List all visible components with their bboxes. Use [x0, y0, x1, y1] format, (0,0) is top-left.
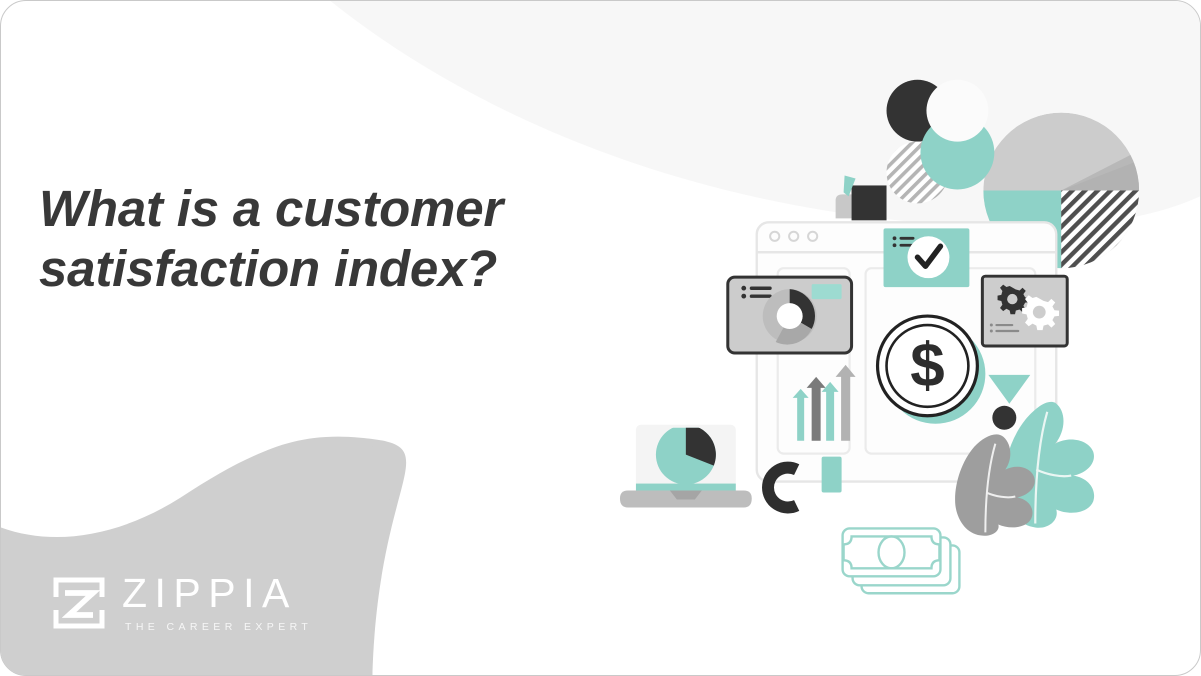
- check-icon: [917, 246, 940, 266]
- leaf-gray-vein: [985, 444, 995, 533]
- text-lines: [990, 324, 1019, 333]
- window-dot-2: [789, 232, 798, 241]
- laptop-pie-slice: [686, 425, 716, 466]
- arrow-bar-4: [836, 365, 856, 441]
- leaf-teal: [1004, 402, 1094, 528]
- banknote-stack: [843, 528, 960, 593]
- zippia-logo-type: ZIPPIA THE CAREER EXPERT: [122, 573, 312, 633]
- dollar-symbol: $: [910, 331, 944, 400]
- checkmark-card: [884, 228, 970, 287]
- triangle-icon: [988, 375, 1030, 404]
- hero-card: What is a customer satisfaction index?: [0, 0, 1201, 676]
- gear-icon-dark: [998, 285, 1029, 315]
- laptop-pie: [620, 425, 752, 508]
- growth-arrows: [793, 365, 856, 441]
- laptop-notch: [670, 491, 702, 500]
- leaves: [955, 402, 1094, 536]
- arrow-bar-1: [793, 389, 809, 441]
- gear-icon-white: [1022, 295, 1059, 330]
- donut-chart: [763, 289, 817, 344]
- list-icon-small: [893, 236, 915, 247]
- list-icon: [741, 286, 771, 299]
- c-arc: [768, 468, 797, 508]
- laptop-ledge: [636, 484, 736, 491]
- gray-blob-bottom-left: [1, 437, 406, 675]
- zippia-logo-mark: [53, 577, 105, 629]
- leaf-gray-vein-2: [986, 493, 1015, 498]
- banknote-1: [843, 528, 941, 576]
- zippia-logo[interactable]: ZIPPIA THE CAREER EXPERT: [53, 573, 312, 633]
- window-dot-3: [808, 232, 817, 241]
- dark-square: [852, 185, 887, 220]
- dollar-coin: $: [878, 316, 986, 424]
- donut-chart-card: [728, 277, 852, 353]
- teal-flag: [844, 175, 856, 196]
- zippia-wordmark: ZIPPIA: [122, 573, 312, 614]
- leaf-teal-vein: [1035, 412, 1047, 524]
- arrow-bar-2: [807, 377, 826, 441]
- pie-chart-large: [983, 113, 1139, 269]
- alert-triangle-dot: [988, 375, 1030, 430]
- leaf-gray: [955, 434, 1035, 535]
- laptop-base: [620, 491, 752, 508]
- banknote-seal: [879, 536, 905, 568]
- leaf-teal-vein-2: [1036, 470, 1071, 477]
- arrow-bar-3: [822, 382, 839, 441]
- page-title: What is a customer satisfaction index?: [39, 179, 599, 299]
- circle-cluster: [887, 80, 995, 204]
- banknote-3: [862, 545, 960, 593]
- zippia-tagline: THE CAREER EXPERT: [125, 621, 312, 633]
- teal-bar: [822, 457, 842, 493]
- laptop-pie-base: [656, 425, 716, 485]
- window-dot-1: [770, 232, 779, 241]
- browser-window: [757, 222, 1057, 481]
- dot-icon: [992, 406, 1016, 430]
- gears-card: [982, 276, 1067, 346]
- banknote-2: [853, 537, 951, 585]
- monitor-accent: [836, 175, 887, 220]
- teal-chip: [812, 284, 842, 299]
- gray-blob-bottom-left-main: [1, 438, 390, 675]
